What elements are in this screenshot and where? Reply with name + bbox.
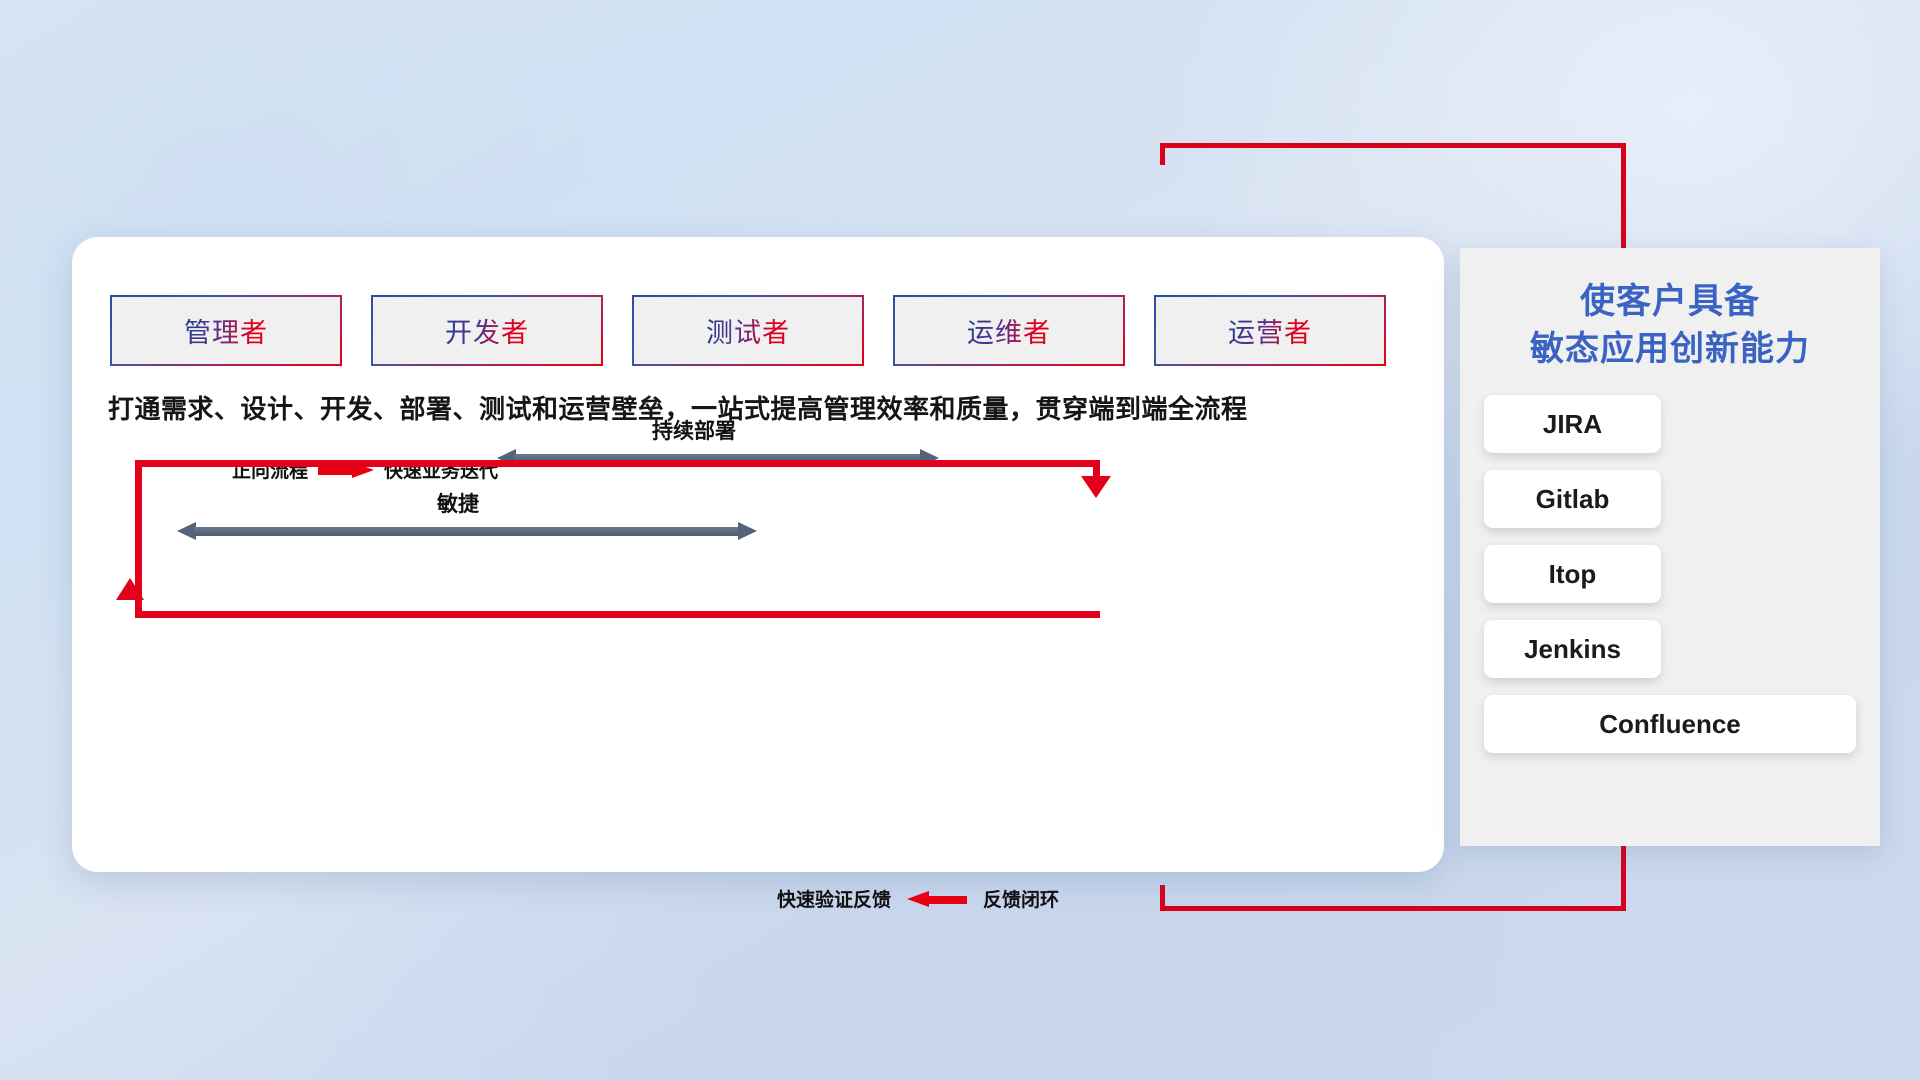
role-chip-row: 管理者 开发者 测试者 运维者 运营者 — [112, 297, 1384, 364]
value-panel-title-line1: 使客户具备 — [1460, 278, 1880, 326]
feedback-source-label: 反馈闭环 — [983, 885, 1059, 912]
arrow-down-red-icon — [1081, 476, 1111, 498]
feedback-loop-legend: 快速验证反馈 反馈闭环 — [777, 885, 1059, 912]
arrow-left-red-icon — [907, 891, 967, 907]
role-chip-developer[interactable]: 开发者 — [373, 297, 601, 364]
outer-bracket-left — [1160, 143, 1165, 165]
role-chip-label: 测试者 — [706, 311, 790, 350]
tool-chip-grid: JIRA Gitlab Itop Jenkins Confluence — [1460, 373, 1880, 753]
arrow-head-right-icon — [738, 522, 757, 540]
process-loop-top-rail — [135, 460, 1100, 467]
slide-canvas: 管理者 开发者 测试者 运维者 运营者 打通需求、设计、开发、部署、测试和运营壁… — [0, 0, 1920, 1080]
outer-bracket-left-stub — [1160, 885, 1165, 911]
outer-bracket-top — [1160, 143, 1626, 148]
role-chip-label: 运维者 — [967, 311, 1051, 350]
role-chip-manager[interactable]: 管理者 — [112, 297, 340, 364]
role-chip-label: 管理者 — [184, 311, 268, 350]
arrow-shaft — [194, 527, 740, 536]
main-card: 管理者 开发者 测试者 运维者 运营者 打通需求、设计、开发、部署、测试和运营壁… — [72, 237, 1444, 872]
role-chip-tester[interactable]: 测试者 — [634, 297, 862, 364]
role-chip-label: 运营者 — [1228, 311, 1312, 350]
span-arrow-agile — [177, 522, 757, 540]
span-label-agile: 敏捷 — [437, 488, 479, 518]
role-chip-operations-maintenance[interactable]: 运维者 — [895, 297, 1123, 364]
tool-chip-jira[interactable]: JIRA — [1484, 395, 1661, 453]
outer-bracket-bottom — [1160, 906, 1626, 911]
value-panel-title-line2: 敏态应用创新能力 — [1460, 326, 1880, 373]
role-chip-business-operator[interactable]: 运营者 — [1156, 297, 1384, 364]
tool-chip-gitlab[interactable]: Gitlab — [1484, 470, 1661, 528]
headline-text: 打通需求、设计、开发、部署、测试和运营壁垒，一站式提高管理效率和质量，贯穿端到端… — [108, 389, 1408, 426]
process-loop-bottom-rail — [135, 611, 1100, 618]
feedback-target-label: 快速验证反馈 — [777, 885, 891, 912]
arrow-up-red-icon — [116, 578, 144, 600]
tool-chip-jenkins[interactable]: Jenkins — [1484, 620, 1661, 678]
role-chip-label: 开发者 — [445, 311, 529, 350]
tool-chip-itop[interactable]: Itop — [1484, 545, 1661, 603]
value-panel: 使客户具备 敏态应用创新能力 JIRA Gitlab Itop Jenkins … — [1460, 248, 1880, 846]
value-panel-title: 使客户具备 敏态应用创新能力 — [1460, 248, 1880, 373]
span-label-continuous-deployment: 持续部署 — [652, 415, 736, 445]
tool-chip-confluence[interactable]: Confluence — [1484, 695, 1856, 753]
